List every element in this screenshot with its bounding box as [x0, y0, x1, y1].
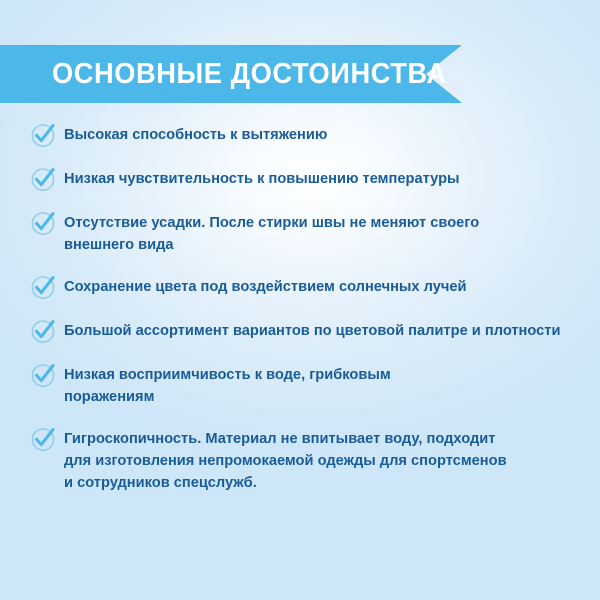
- benefit-text: Низкая чувствительность к повышению темп…: [64, 166, 460, 190]
- check-circle-icon: [30, 274, 56, 300]
- benefit-text-line: для изготовления непромокаемой одежды дл…: [64, 450, 507, 472]
- benefit-text-line: Сохранение цвета под воздействием солнеч…: [64, 276, 467, 298]
- benefit-item: Низкая чувствительность к повышению темп…: [30, 166, 586, 192]
- benefit-text: Низкая восприимчивость к воде, грибковым…: [64, 362, 391, 408]
- benefit-text-line: Низкая чувствительность к повышению темп…: [64, 168, 460, 190]
- check-circle-icon: [30, 362, 56, 388]
- benefits-list: Высокая способность к вытяжениюНизкая чу…: [30, 122, 586, 512]
- benefit-text: Высокая способность к вытяжению: [64, 122, 327, 146]
- benefit-text-line: внешнего вида: [64, 234, 479, 256]
- benefit-text: Сохранение цвета под воздействием солнеч…: [64, 274, 467, 298]
- benefit-text-line: Высокая способность к вытяжению: [64, 124, 327, 146]
- benefit-text: Гигроскопичность. Материал не впитывает …: [64, 426, 507, 494]
- benefit-item: Гигроскопичность. Материал не впитывает …: [30, 426, 586, 494]
- benefit-text: Отсутствие усадки. После стирки швы не м…: [64, 210, 479, 256]
- benefit-text-line: поражениям: [64, 386, 391, 408]
- page-title: ОСНОВНЫЕ ДОСТОИНСТВА: [52, 45, 447, 103]
- benefit-text-line: и сотрудников спецслужб.: [64, 472, 507, 494]
- benefit-item: Отсутствие усадки. После стирки швы не м…: [30, 210, 586, 256]
- check-circle-icon: [30, 122, 56, 148]
- benefit-text-line: Низкая восприимчивость к воде, грибковым: [64, 364, 391, 386]
- benefit-item: Большой ассортимент вариантов по цветово…: [30, 318, 586, 344]
- check-circle-icon: [30, 426, 56, 452]
- benefit-text-line: Гигроскопичность. Материал не впитывает …: [64, 428, 507, 450]
- benefit-item: Высокая способность к вытяжению: [30, 122, 586, 148]
- check-circle-icon: [30, 210, 56, 236]
- benefit-text-line: Отсутствие усадки. После стирки швы не м…: [64, 212, 479, 234]
- benefit-text-line: Большой ассортимент вариантов по цветово…: [64, 320, 560, 342]
- check-circle-icon: [30, 318, 56, 344]
- check-circle-icon: [30, 166, 56, 192]
- benefits-poster: ОСНОВНЫЕ ДОСТОИНСТВА Высокая способность…: [0, 0, 600, 600]
- header-banner: ОСНОВНЫЕ ДОСТОИНСТВА: [0, 45, 462, 103]
- benefit-text: Большой ассортимент вариантов по цветово…: [64, 318, 560, 342]
- benefit-item: Низкая восприимчивость к воде, грибковым…: [30, 362, 586, 408]
- benefit-item: Сохранение цвета под воздействием солнеч…: [30, 274, 586, 300]
